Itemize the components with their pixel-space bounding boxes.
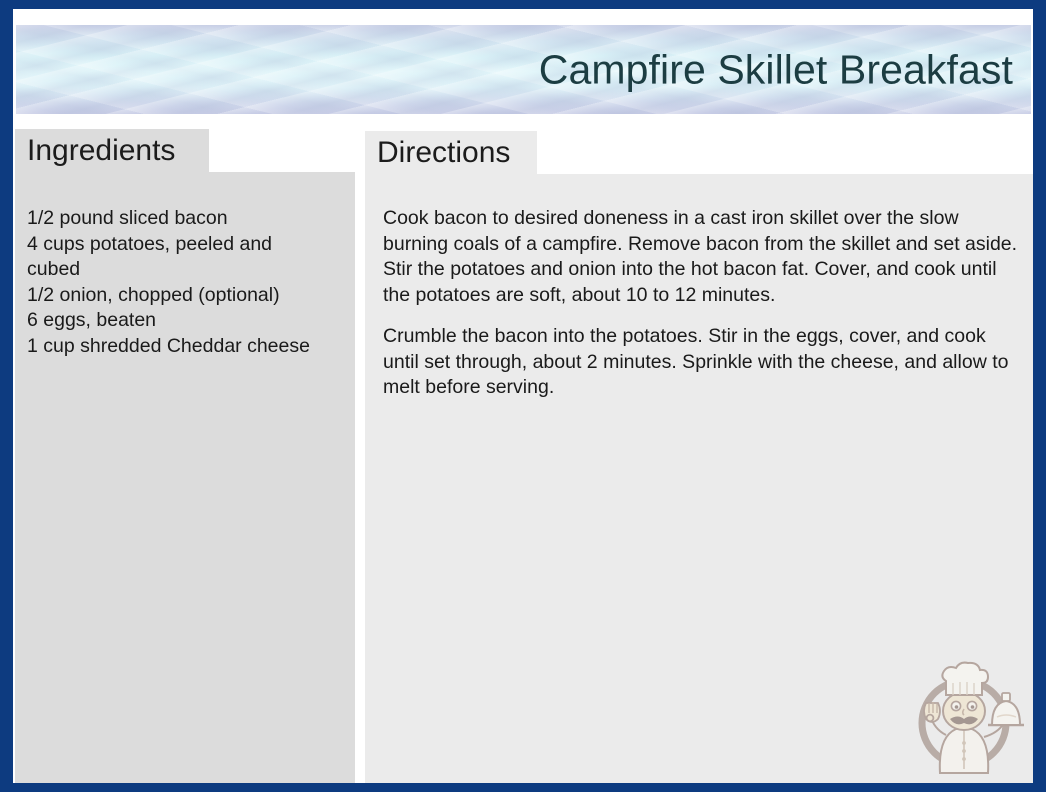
panel-divider	[355, 129, 365, 783]
directions-heading-tab: Directions	[365, 131, 537, 174]
ingredients-heading-tab: Ingredients	[15, 129, 209, 172]
directions-heading: Directions	[377, 138, 510, 168]
header-banner: Campfire Skillet Breakfast	[16, 25, 1031, 114]
directions-panel: Cook bacon to desired doneness in a cast…	[365, 174, 1033, 783]
ingredients-heading: Ingredients	[27, 136, 175, 166]
ingredients-panel: 1/2 pound sliced bacon 4 cups potatoes, …	[15, 172, 355, 783]
recipe-page: Campfire Skillet Breakfast	[13, 9, 1033, 783]
recipe-card: Campfire Skillet Breakfast	[0, 0, 1046, 792]
page-title: Campfire Skillet Breakfast	[539, 48, 1013, 91]
ingredients-list: 1/2 pound sliced bacon 4 cups potatoes, …	[27, 206, 347, 359]
directions-paragraph-1: Cook bacon to desired doneness in a cast…	[383, 206, 1021, 308]
directions-paragraph-2: Crumble the bacon into the potatoes. Sti…	[383, 324, 1021, 401]
